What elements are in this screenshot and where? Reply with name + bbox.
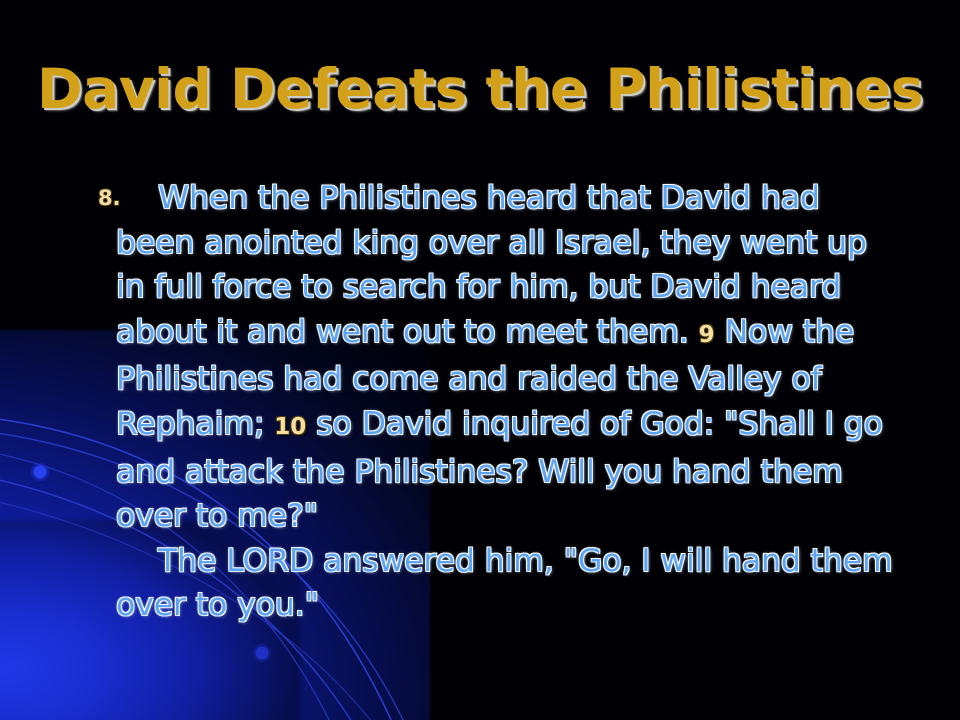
presentation-slide: David Defeats the Philistines 8.When the…: [0, 0, 960, 720]
verse-paragraph: 8.When the Philistines heard that David …: [56, 176, 902, 539]
answer-paragraph: The LORD answered him, "Go, I will hand …: [56, 539, 902, 628]
slide-title: David Defeats the Philistines: [0, 58, 960, 120]
arc-dot-lower-halo: [253, 644, 271, 662]
verse-number-10: 10: [274, 414, 306, 440]
arc-dot-upper: [34, 466, 47, 479]
arc-dot-lower: [256, 647, 269, 660]
answer-text: The LORD answered him, "Go, I will hand …: [116, 543, 893, 624]
arc-dot-upper-halo: [31, 463, 49, 481]
slide-body: 8.When the Philistines heard that David …: [56, 176, 902, 628]
bullet-marker: 8.: [56, 178, 108, 218]
verse-number-9: 9: [699, 322, 715, 348]
